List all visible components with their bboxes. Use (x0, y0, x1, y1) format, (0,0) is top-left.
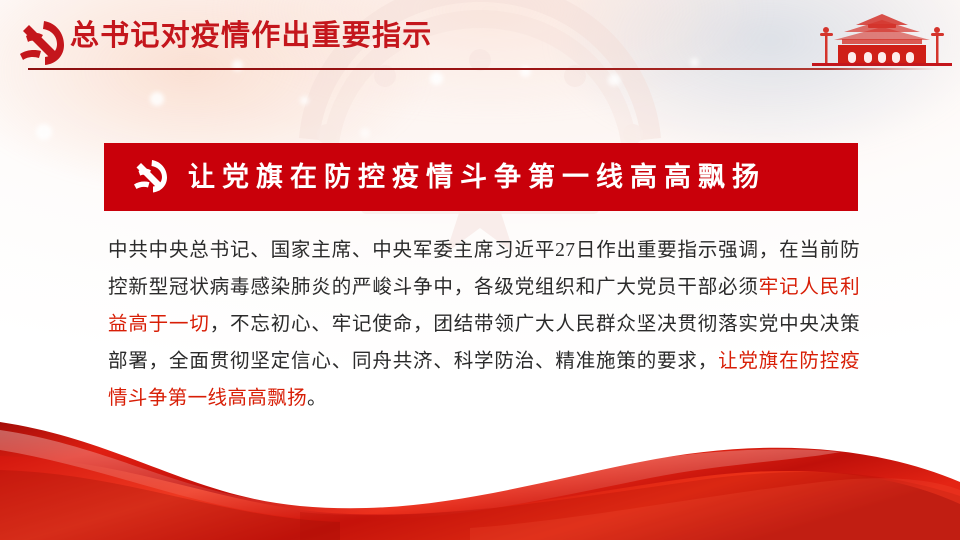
slide-canvas: 总书记对疫情作出重要指示 (0, 0, 960, 540)
party-emblem-white-icon (130, 158, 170, 196)
red-silk-ribbon (0, 400, 960, 540)
bokeh-dot (300, 96, 309, 105)
page-title: 总书记对疫情作出重要指示 (70, 22, 432, 51)
bokeh-dot (36, 124, 52, 140)
header-divider (28, 68, 938, 70)
body-text-normal: 中共中央总书记、国家主席、中央军委主席习近平27日作出重要指示强调，在当前防控新… (108, 240, 860, 298)
tiananmen-gate-icon (812, 12, 952, 70)
page-header: 总书记对疫情作出重要指示 (0, 0, 960, 80)
body-paragraph: 中共中央总书记、国家主席、中央军委主席习近平27日作出重要指示强调，在当前防控新… (108, 232, 860, 417)
bokeh-dot (150, 92, 164, 106)
bokeh-dot (360, 128, 370, 138)
party-emblem-icon (14, 18, 68, 70)
headline-banner: 让党旗在防控疫情斗争第一线高高飘扬 (104, 143, 858, 211)
banner-title: 让党旗在防控疫情斗争第一线高高飘扬 (188, 164, 766, 191)
